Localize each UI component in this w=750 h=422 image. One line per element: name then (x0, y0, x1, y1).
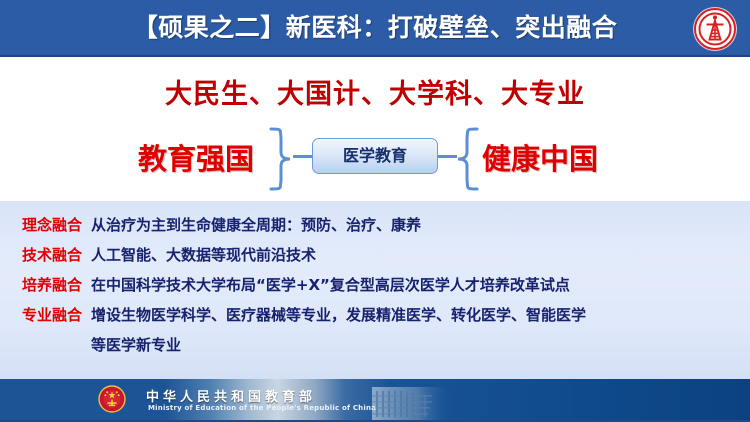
content-row-text: 人工智能、大数据等现代前沿技术 (91, 243, 742, 267)
diagram-center-label: 医学教育 (313, 139, 437, 173)
headline-text: 大民生、大国计、大学科、大专业 (0, 72, 750, 111)
content-row-text: 在中国科学技术大学布局“医学+X”复合型高层次医学人才培养改革试点 (91, 273, 742, 297)
content-row-text-group: 增设生物医学科学、医疗器械等专业，发展精准医学、转化医学、智能医学 等医学新专业 (91, 303, 742, 357)
footer-ministry-name-en: Ministry of Education of the People's Re… (148, 404, 376, 412)
content-row-text-continued: 等医学新专业 (91, 333, 742, 357)
content-row: 技术融合 人工智能、大数据等现代前沿技术 (22, 243, 742, 267)
title-bar: 【硕果之二】新医科：打破壁垒、突出融合 (0, 0, 750, 57)
content-row: 专业融合 增设生物医学科学、医疗器械等专业，发展精准医学、转化医学、智能医学 等… (22, 303, 742, 357)
page-title: 【硕果之二】新医科：打破壁垒、突出融合 (0, 0, 750, 55)
left-curly-brace-icon (444, 126, 480, 192)
diagram-right-label: 健康中国 (482, 118, 632, 200)
content-row-text: 增设生物医学科学、医疗器械等专业，发展精准医学、转化医学、智能医学 (91, 306, 586, 324)
diagram-connector-left (293, 155, 313, 158)
university-seal-icon (694, 8, 736, 50)
content-row: 理念融合 从治疗为主到生命健康全周期：预防、治疗、康养 (22, 213, 742, 237)
content-panel: 理念融合 从治疗为主到生命健康全周期：预防、治疗、康养 技术融合 人工智能、大数… (0, 201, 750, 379)
government-building-icon (372, 379, 490, 420)
diagram-center-node: 医学教育 (312, 138, 438, 174)
content-row-label: 专业融合 (22, 303, 82, 327)
content-row: 培养融合 在中国科学技术大学布局“医学+X”复合型高层次医学人才培养改革试点 (22, 273, 742, 297)
right-curly-brace-icon (268, 126, 304, 192)
content-row-text: 从治疗为主到生命健康全周期：预防、治疗、康养 (91, 213, 742, 237)
national-emblem-icon (98, 385, 126, 413)
content-row-label: 培养融合 (22, 273, 82, 297)
slide-canvas: 【硕果之二】新医科：打破壁垒、突出融合 大民生、大国计、大学科、大专业 教育强国 (0, 0, 750, 422)
content-row-label: 理念融合 (22, 213, 82, 237)
content-row-label: 技术融合 (22, 243, 82, 267)
footer-ministry-name-cn: 中华人民共和国教育部 (146, 386, 316, 405)
diagram-left-label: 教育强国 (138, 118, 268, 200)
diagram-connector-right (437, 155, 457, 158)
footer-bar: 中华人民共和国教育部 Ministry of Education of the … (0, 379, 750, 420)
